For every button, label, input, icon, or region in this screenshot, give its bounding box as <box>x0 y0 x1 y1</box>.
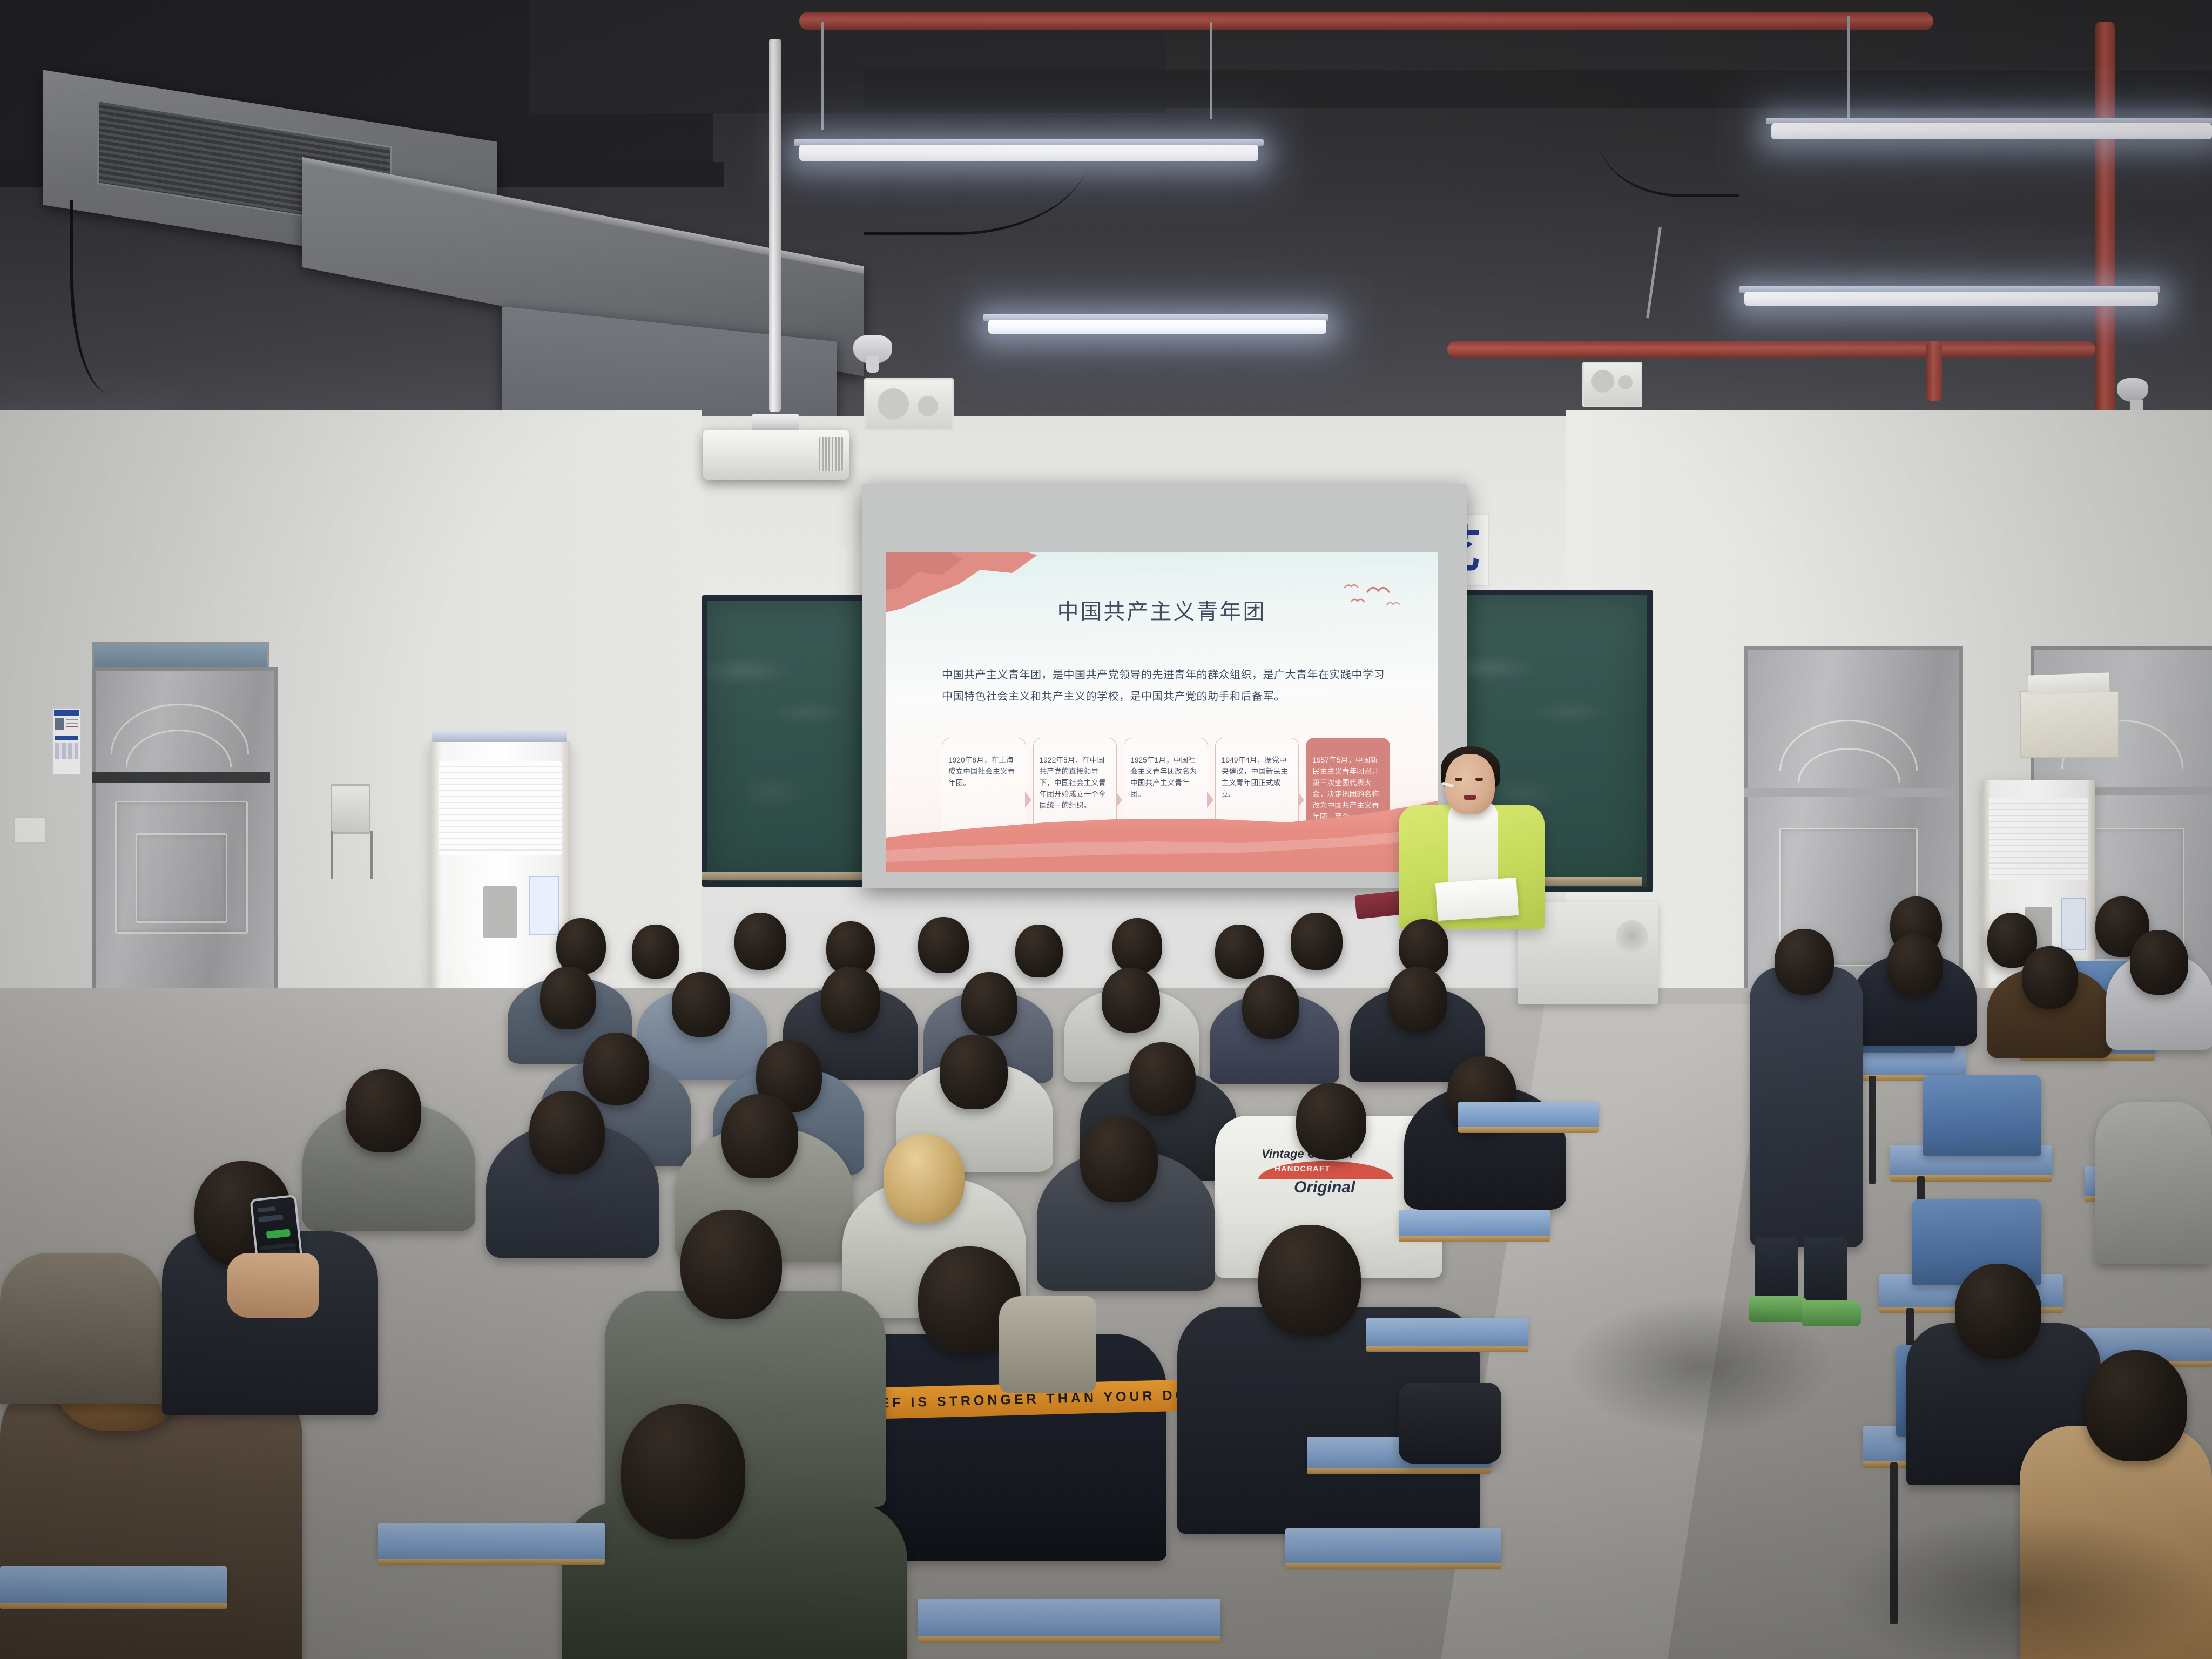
speaker-cone-icon <box>1618 375 1633 389</box>
fluorescent-tube-light <box>1744 292 2158 306</box>
ceiling-projector[interactable] <box>703 430 849 480</box>
poster-photo <box>55 718 64 730</box>
student-torso <box>2095 1102 2212 1264</box>
desk-wood-edge <box>0 1603 227 1609</box>
sprinkler-pipe <box>1447 341 2095 358</box>
student-head <box>540 967 596 1029</box>
ac-vent <box>1989 798 2089 880</box>
standing-student-head <box>1775 929 1834 995</box>
sneaker-right <box>1802 1300 1861 1326</box>
student-torso-tan-jacket <box>2020 1426 2212 1659</box>
ac-energy-label <box>2061 898 2086 949</box>
student-head <box>1296 1083 1366 1160</box>
student-head <box>2085 1350 2187 1461</box>
student-head <box>1215 925 1264 979</box>
poster-grid <box>55 743 78 759</box>
student-torso-front <box>562 1501 907 1659</box>
student-head <box>1112 918 1162 973</box>
door-rail <box>92 772 270 783</box>
desk-wood-edge <box>1307 1468 1491 1474</box>
student-head <box>1388 967 1447 1033</box>
hoodie-banner-text: HANDCRAFT <box>1274 1164 1330 1174</box>
desk-leg <box>1869 1076 1876 1184</box>
poster-line <box>66 723 78 724</box>
sprinkler-pipe <box>799 12 1933 30</box>
slide-body-text: 中国共产主义青年团，是中国共产党领导的先进青年的群众组织，是广大青年在实践中学习… <box>942 664 1385 707</box>
smoke-detector-icon <box>2117 378 2148 402</box>
chat-bubble-incoming <box>257 1206 276 1213</box>
student-head <box>583 1033 649 1105</box>
door-rail <box>1744 788 1955 797</box>
smoke-detector-icon <box>853 335 892 364</box>
student-head <box>529 1091 605 1174</box>
student-head-front <box>621 1404 745 1539</box>
student-desk <box>918 1599 1220 1637</box>
student-head <box>1242 975 1299 1039</box>
desk-leg <box>1890 1462 1898 1624</box>
door-left[interactable] <box>92 667 278 1021</box>
poster-line <box>66 719 78 720</box>
wall-speaker <box>1582 362 1642 407</box>
student-head-blonde <box>884 1134 965 1223</box>
screen-blank-area <box>886 487 1438 552</box>
ac-vent <box>439 761 562 855</box>
poster-header <box>54 710 79 716</box>
student-head <box>821 967 880 1033</box>
fluorescent-tube-light <box>799 145 1258 161</box>
desk-wood-edge <box>378 1559 605 1565</box>
student-head <box>346 1069 421 1152</box>
chat-bubble-incoming <box>258 1215 284 1223</box>
timeline-step-text: 1922年5月，在中国共产党的直接领导下，中国社会主义青年团开始成立一个全国统一… <box>1040 756 1106 810</box>
timeline-arrow-icon <box>1025 792 1031 808</box>
student-head <box>961 972 1017 1036</box>
timeline-step-text: 1957年5月，中国新民主主义青年团召开第三次全国代表大会，决定把团的名称改为中… <box>1312 756 1379 821</box>
student-head <box>1080 1117 1158 1202</box>
student-head <box>1887 934 1943 997</box>
hoodie-script-text: Original <box>1294 1178 1355 1197</box>
desk-wood-edge <box>1890 1175 2052 1182</box>
projector-mount-pole <box>769 39 781 412</box>
projection-screen: 中国共产主义青年团 中国共产主义青年团，是中国共产党领导的先进青年的群众组织，是… <box>862 484 1467 888</box>
presenter-head <box>1445 754 1495 814</box>
fluorescent-tube-light <box>988 320 1326 334</box>
student-head <box>1102 968 1160 1033</box>
speaker-cone-icon <box>1591 370 1614 393</box>
speaker-cone-icon <box>878 388 909 420</box>
student-torso <box>0 1253 162 1404</box>
poster-line <box>66 726 78 727</box>
timeline-step-text: 1925年1月，中国社会主义青年团改名为中国共产主义青年团。 <box>1130 756 1197 798</box>
conduit-pipes <box>331 831 373 879</box>
student-desk <box>1458 1102 1599 1128</box>
timeline-arrow-icon <box>1116 792 1122 808</box>
student-head <box>940 1035 1008 1109</box>
student-head <box>672 972 730 1037</box>
student-head <box>1129 1042 1196 1116</box>
sneaker-left <box>1749 1296 1808 1322</box>
timeline-arrow-icon <box>1207 792 1213 808</box>
desk-wood-edge <box>1399 1236 1550 1242</box>
presenter-papers <box>1435 878 1519 921</box>
door-panel <box>136 833 227 923</box>
electrical-meter-box <box>331 784 370 834</box>
stacked-papers <box>2028 672 2109 694</box>
student-desk <box>1399 1210 1550 1237</box>
student-shoulder-tan <box>999 1296 1096 1393</box>
student-head <box>734 913 786 970</box>
light-hanger <box>821 22 824 130</box>
sprinkler-pipe-vertical <box>1926 341 1942 401</box>
student-desk <box>378 1523 605 1560</box>
hand <box>227 1253 319 1318</box>
student-chair <box>1923 1075 2041 1156</box>
desk-wood-edge <box>1285 1563 1501 1569</box>
classroom-scene: 艺 中国共产主义青年团 中国共产主义青年团，是中国共产党领导的先进青年的群众组织… <box>0 0 2212 1659</box>
student-head <box>556 918 606 974</box>
student-head <box>1015 925 1063 977</box>
timeline-arrow-icon <box>1298 792 1304 808</box>
wall-speaker <box>864 378 954 431</box>
student-desk <box>0 1566 227 1604</box>
student-head <box>1955 1264 2041 1359</box>
student-desk <box>1285 1528 1501 1564</box>
student-head <box>1291 913 1343 970</box>
light-switch-plate[interactable] <box>13 817 46 844</box>
desk-wood-edge <box>1458 1127 1599 1133</box>
fluorescent-tube-light <box>1771 123 2212 139</box>
desk-wood-edge <box>1366 1346 1528 1352</box>
standing-student-torso <box>1750 967 1863 1247</box>
poster-band <box>55 736 78 740</box>
student-head <box>918 917 969 973</box>
presentation-slide: 中国共产主义青年团 中国共产主义青年团，是中国共产党领导的先进青年的群众组织，是… <box>886 549 1438 872</box>
chalk-rail <box>702 872 864 880</box>
student-head <box>2130 930 2188 995</box>
student-head <box>721 1094 798 1178</box>
storage-boxes <box>2020 691 2119 758</box>
eye-left <box>1455 778 1462 781</box>
student-head <box>2022 946 2078 1009</box>
chat-bubble-outgoing <box>266 1229 291 1239</box>
air-conditioner-left[interactable] <box>430 741 570 1000</box>
desk-wood-edge <box>918 1636 1220 1643</box>
wall-notice-poster <box>52 707 81 775</box>
projector-bracket <box>752 414 799 432</box>
slide-title: 中国共产主义青年团 <box>886 594 1438 625</box>
student-head <box>632 925 679 979</box>
student-desk <box>1366 1318 1528 1347</box>
eye-right <box>1475 778 1483 781</box>
student-head <box>1399 919 1448 974</box>
timeline-step-text: 1949年4月，据党中央建议，中国新民主主义青年团正式成立。 <box>1222 756 1288 798</box>
student-head <box>1258 1225 1361 1336</box>
mouth <box>1464 795 1476 800</box>
student-head <box>680 1210 782 1319</box>
ac-energy-label <box>529 876 559 935</box>
timeline-step-text: 1920年8月，在上海成立中国社会主义青年团。 <box>948 756 1015 787</box>
light-hanger <box>1847 16 1850 119</box>
speaker-cone-icon <box>918 396 938 416</box>
ac-display-panel <box>483 886 517 938</box>
backpack-on-floor <box>1399 1382 1501 1464</box>
podium-vent-icon <box>1616 920 1648 953</box>
blackboard-left <box>702 595 875 887</box>
light-hanger <box>1210 22 1212 119</box>
ac-top-papers <box>432 730 567 742</box>
